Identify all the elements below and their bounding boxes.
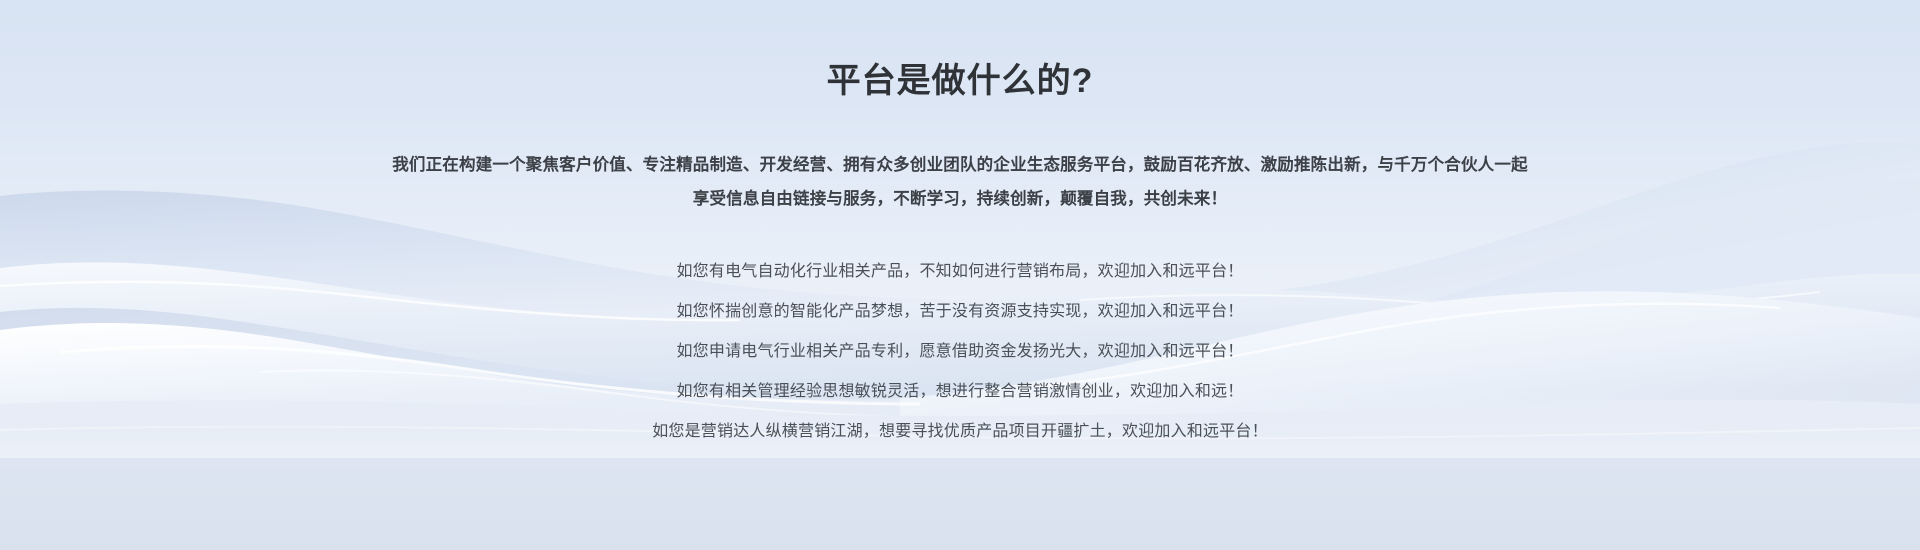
page-title: 平台是做什么的? [0, 0, 1920, 104]
hero-content: 平台是做什么的? 我们正在构建一个聚焦客户价值、专注精品制造、开发经营、拥有众多… [0, 0, 1920, 452]
hero-banner: 平台是做什么的? 我们正在构建一个聚焦客户价值、专注精品制造、开发经营、拥有众多… [0, 0, 1920, 550]
intro-paragraph: 我们正在构建一个聚焦客户价值、专注精品制造、开发经营、拥有众多创业团队的企业生态… [385, 104, 1535, 216]
offer-list: 如您有电气自动化行业相关产品，不知如何进行营销布局，欢迎加入和远平台！ 如您怀揣… [310, 216, 1610, 452]
list-item: 如您有电气自动化行业相关产品，不知如何进行营销布局，欢迎加入和远平台！ [310, 252, 1610, 292]
list-item: 如您是营销达人纵横营销江湖，想要寻找优质产品项目开疆扩土，欢迎加入和远平台！ [310, 412, 1610, 452]
list-item: 如您申请电气行业相关产品专利，愿意借助资金发扬光大，欢迎加入和远平台！ [310, 332, 1610, 372]
list-item: 如您怀揣创意的智能化产品梦想，苦于没有资源支持实现，欢迎加入和远平台！ [310, 292, 1610, 332]
list-item: 如您有相关管理经验思想敏锐灵活，想进行整合营销激情创业，欢迎加入和远！ [310, 372, 1610, 412]
